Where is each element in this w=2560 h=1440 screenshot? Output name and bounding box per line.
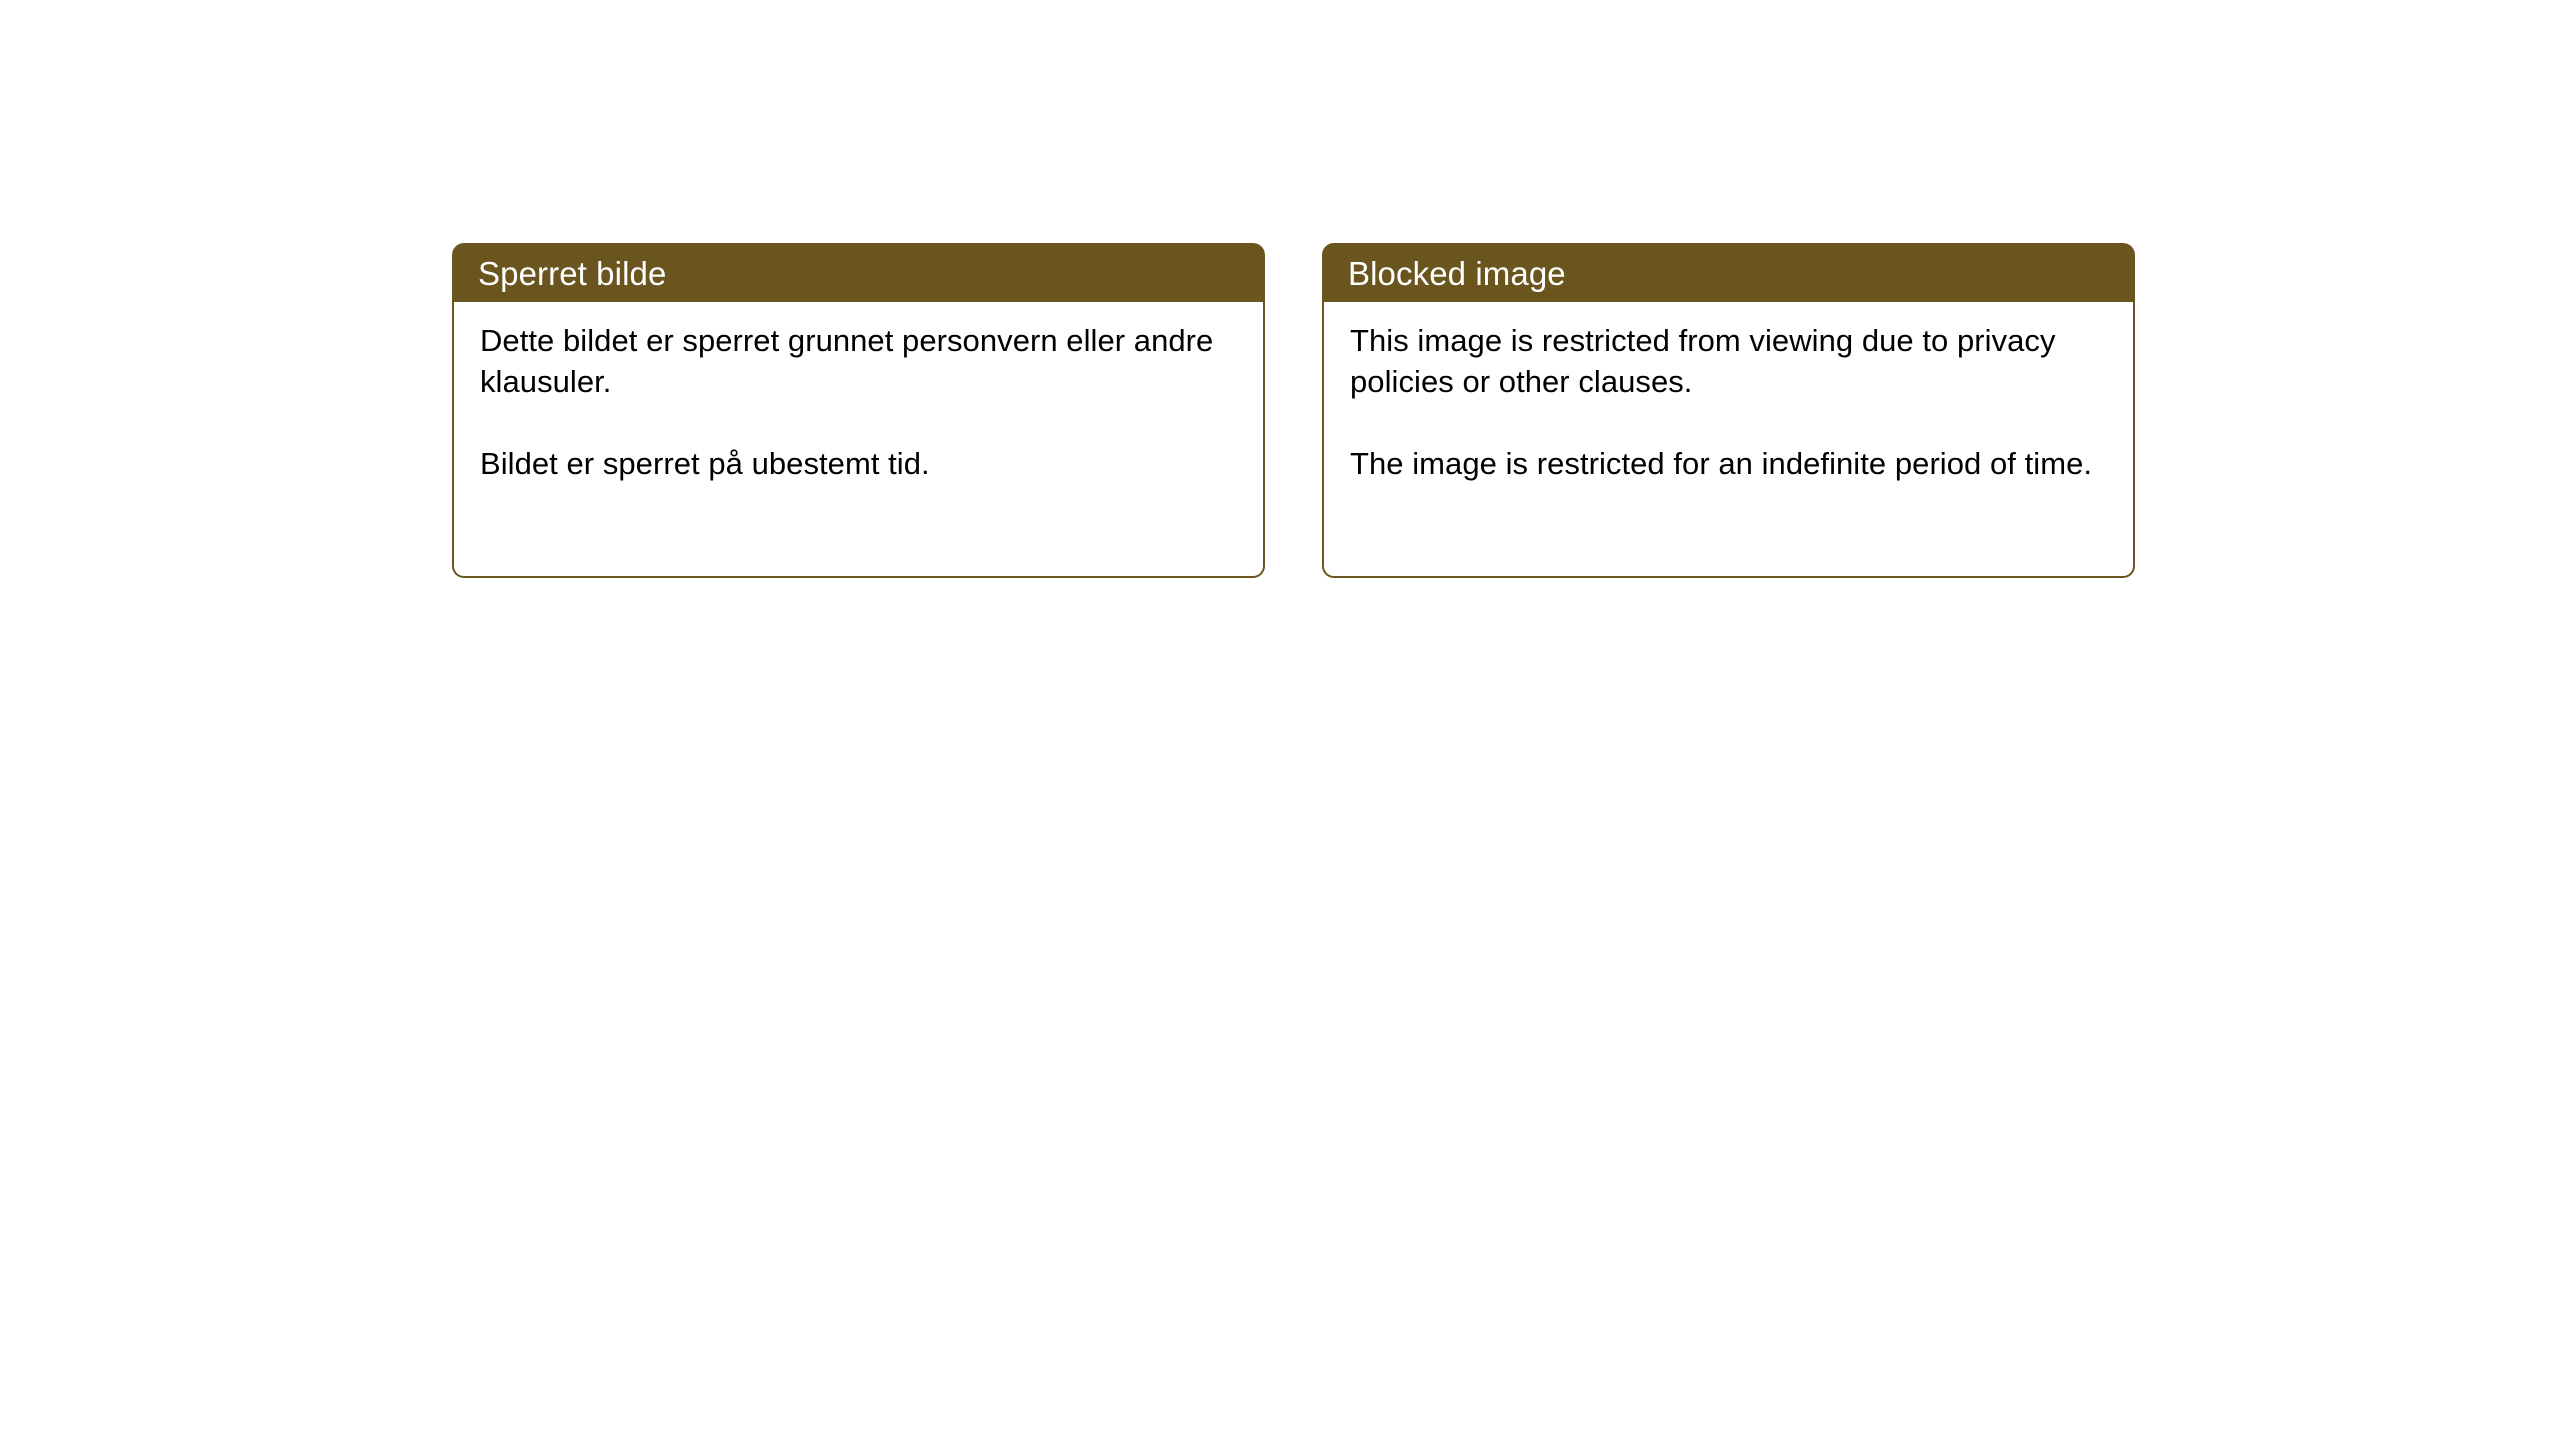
card-header-en: Blocked image	[1322, 243, 2135, 302]
blocked-image-notice-card-en: Blocked image This image is restricted f…	[1322, 243, 2135, 578]
blocked-image-notice-card-no: Sperret bilde Dette bildet er sperret gr…	[452, 243, 1265, 578]
card-paragraph-en-2: The image is restricted for an indefinit…	[1350, 443, 2109, 484]
card-title-en: Blocked image	[1348, 257, 1566, 290]
card-body-no: Dette bildet er sperret grunnet personve…	[452, 302, 1265, 578]
page-canvas: Sperret bilde Dette bildet er sperret gr…	[0, 0, 2560, 1440]
card-header-no: Sperret bilde	[452, 243, 1265, 302]
card-paragraph-no-1: Dette bildet er sperret grunnet personve…	[480, 320, 1239, 402]
card-body-en: This image is restricted from viewing du…	[1322, 302, 2135, 578]
card-paragraph-en-1: This image is restricted from viewing du…	[1350, 320, 2109, 402]
card-title-no: Sperret bilde	[478, 257, 666, 290]
card-paragraph-no-2: Bildet er sperret på ubestemt tid.	[480, 443, 1239, 484]
